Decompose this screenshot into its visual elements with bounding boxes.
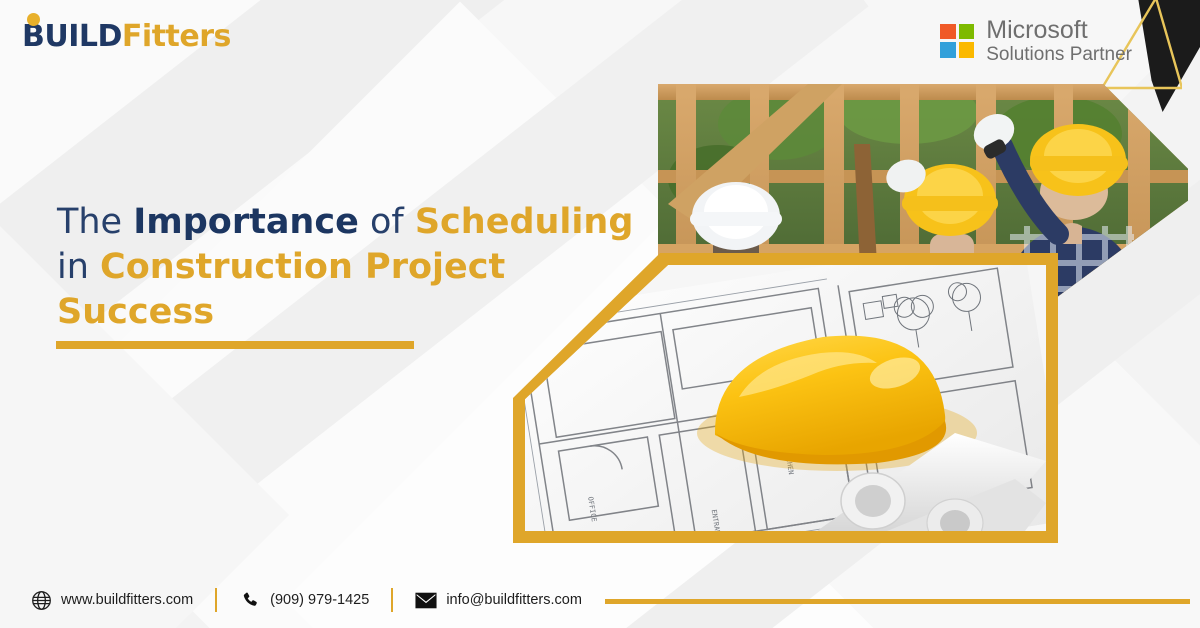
footer-website[interactable]: www.buildfitters.com — [30, 589, 193, 611]
footer-phone-text: (909) 979-1425 — [270, 592, 369, 608]
contact-footer: www.buildfitters.com (909) 979-1425 info… — [30, 586, 582, 614]
footer-phone[interactable]: (909) 979-1425 — [239, 589, 369, 611]
solutions-partner-label: Solutions Partner — [986, 44, 1132, 65]
microsoft-partner-badge: Microsoft Solutions Partner — [940, 16, 1132, 65]
footer-divider-1 — [215, 588, 217, 612]
envelope-icon — [415, 589, 437, 611]
logo-build-text: BUILD — [22, 22, 122, 52]
logo-fitters-text: Fitters — [122, 22, 231, 52]
brand-logo[interactable]: BUILD Fitters — [22, 22, 231, 52]
footer-gold-rule — [605, 599, 1190, 604]
headline-in: in — [57, 247, 100, 287]
headline-importance: Importance — [133, 202, 359, 242]
microsoft-logo-icon — [940, 24, 974, 58]
page-title: The Importance of Scheduling in Construc… — [57, 200, 657, 334]
headline-of: of — [359, 202, 415, 242]
phone-icon — [239, 589, 261, 611]
microsoft-badge-text: Microsoft Solutions Partner — [986, 16, 1132, 65]
headline-the: The — [57, 202, 133, 242]
title-underline-rule — [56, 341, 414, 349]
headline-scheduling: Scheduling — [415, 202, 634, 242]
globe-icon — [30, 589, 52, 611]
footer-divider-2 — [391, 588, 393, 612]
microsoft-wordmark: Microsoft — [986, 16, 1132, 44]
headline-construction-project-success: Construction Project Success — [57, 247, 505, 332]
logo-dot-icon — [27, 13, 40, 26]
banner-root: BUILD Fitters Microsoft Solutions Partne… — [0, 0, 1200, 628]
footer-website-text: www.buildfitters.com — [61, 592, 193, 608]
footer-email-text: info@buildfitters.com — [446, 592, 582, 608]
footer-email[interactable]: info@buildfitters.com — [415, 589, 582, 611]
